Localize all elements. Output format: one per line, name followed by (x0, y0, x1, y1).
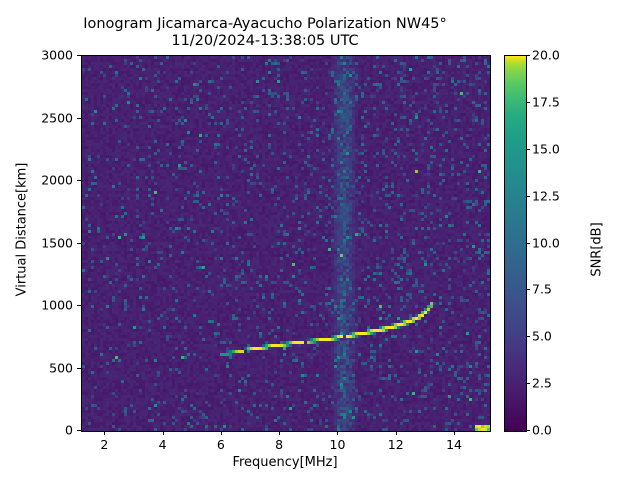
x-tick-label: 10 (330, 437, 346, 452)
colorbar-tick-label: 0.0 (532, 423, 552, 438)
x-tick-mark (104, 431, 105, 435)
y-tick-label: 2500 (41, 110, 73, 125)
y-tick-label: 0 (65, 423, 73, 438)
x-tick-label: 4 (159, 437, 167, 452)
y-tick-label: 1500 (41, 235, 73, 250)
colorbar-tick-mark (526, 149, 530, 150)
colorbar-tick-mark (526, 55, 530, 56)
colorbar-tick-label: 15.0 (532, 141, 560, 156)
colorbar-tick-mark (526, 243, 530, 244)
y-tick-label: 3000 (41, 48, 73, 63)
x-tick-label: 8 (275, 437, 283, 452)
x-tick-label: 6 (217, 437, 225, 452)
x-tick-mark (454, 431, 455, 435)
colorbar-tick-mark (526, 383, 530, 384)
colorbar-tick-mark (526, 430, 530, 431)
colorbar-tick-mark (526, 196, 530, 197)
x-tick-label: 2 (100, 437, 108, 452)
y-tick-mark (77, 180, 81, 181)
y-axis-label: Virtual Distance[km] (15, 130, 30, 330)
y-tick-mark (77, 55, 81, 56)
x-tick-mark (221, 431, 222, 435)
colorbar-label: SNR[dB] (590, 170, 605, 330)
colorbar-tick-label: 20.0 (532, 48, 560, 63)
x-axis-label: Frequency[MHz] (81, 455, 489, 470)
colorbar-tick-label: 7.5 (532, 282, 552, 297)
y-tick-mark (77, 243, 81, 244)
y-tick-mark (77, 368, 81, 369)
colorbar-tick-mark (526, 102, 530, 103)
y-tick-label: 500 (49, 360, 73, 375)
page-title: Ionogram Jicamarca-Ayacucho Polarization… (0, 16, 530, 50)
y-tick-mark (77, 118, 81, 119)
y-tick-label: 2000 (41, 173, 73, 188)
y-tick-label: 1000 (41, 298, 73, 313)
colorbar-tick-label: 5.0 (532, 329, 552, 344)
y-tick-mark (77, 305, 81, 306)
colorbar-tick-label: 12.5 (532, 188, 560, 203)
colorbar-tick-mark (526, 289, 530, 290)
x-tick-mark (396, 431, 397, 435)
x-tick-mark (337, 431, 338, 435)
x-tick-label: 14 (446, 437, 462, 452)
x-tick-mark (279, 431, 280, 435)
heatmap-plot-area (81, 55, 491, 432)
colorbar-tick-label: 17.5 (532, 94, 560, 109)
colorbar-tick-mark (526, 336, 530, 337)
x-tick-mark (163, 431, 164, 435)
y-tick-mark (77, 430, 81, 431)
colorbar-tick-label: 2.5 (532, 376, 552, 391)
x-tick-label: 12 (388, 437, 404, 452)
ionogram-heatmap-canvas (82, 56, 490, 431)
colorbar-tick-label: 10.0 (532, 235, 560, 250)
ionogram-figure: Ionogram Jicamarca-Ayacucho Polarization… (0, 0, 640, 480)
colorbar (504, 55, 527, 432)
